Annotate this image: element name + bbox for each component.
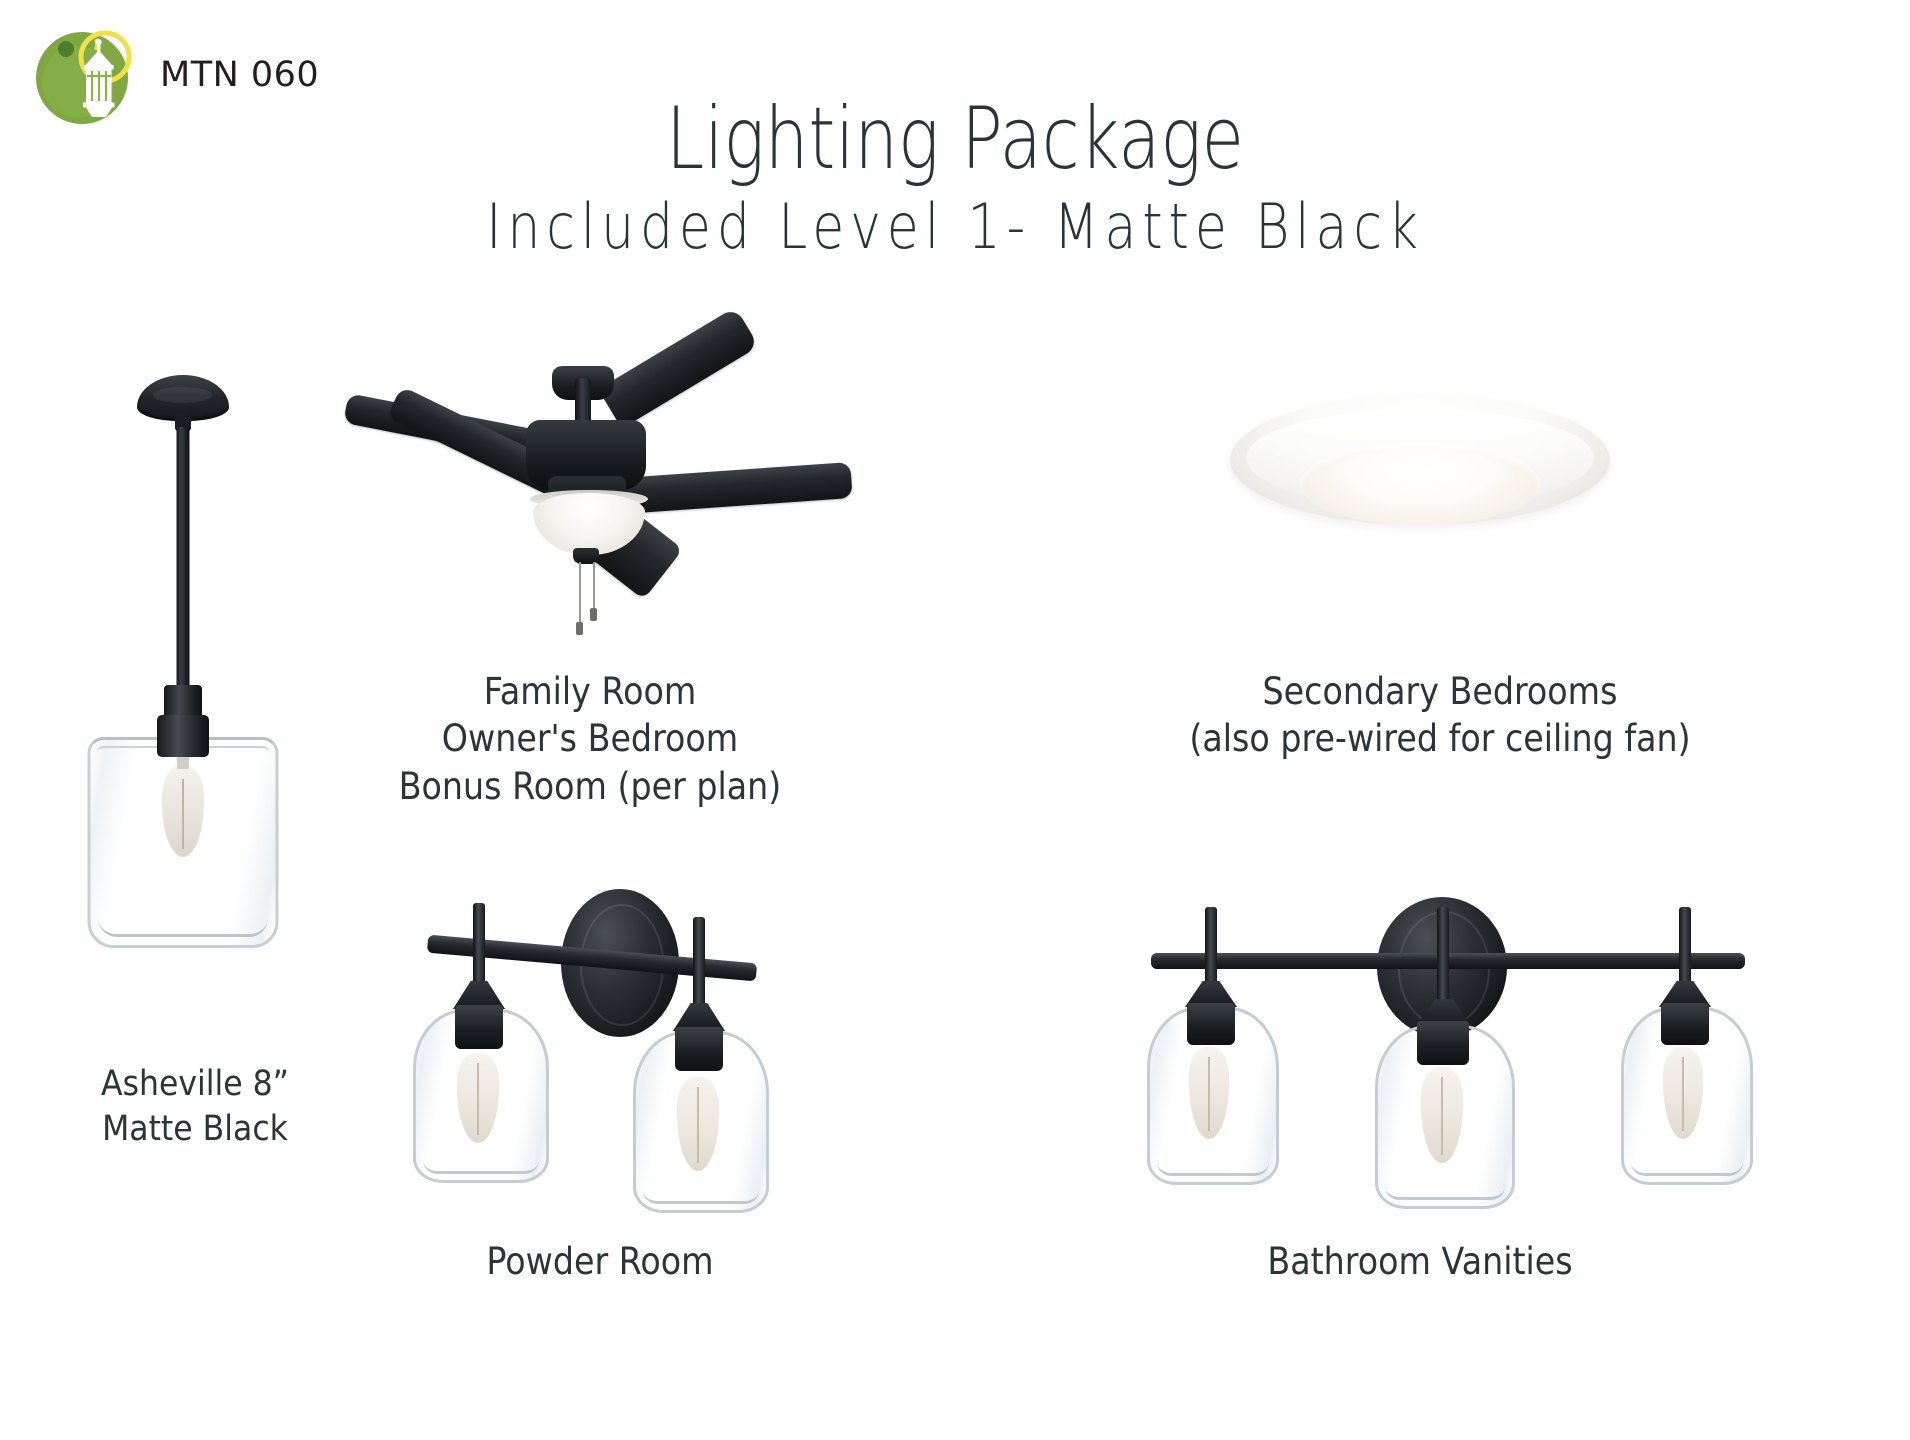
vanity3-socket-right: [1661, 1003, 1709, 1045]
fan-caption-line-1: Family Room: [329, 668, 851, 715]
vanity2-socket-right: [675, 1027, 723, 1071]
bathroom-vanities-caption: Bathroom Vanities: [1204, 1238, 1636, 1285]
title-block: Lighting Package Included Level 1- Matte…: [0, 96, 1910, 258]
pendant-light-image: [75, 355, 290, 1035]
pendant-downrod: [176, 427, 189, 691]
secondary-bedrooms-caption: Secondary Bedrooms (also pre-wired for c…: [1152, 668, 1728, 763]
fan-caption-line-3: Bonus Room (per plan): [329, 763, 851, 810]
fan-pull-chain-end-2: [590, 608, 597, 621]
flush-mount-light-image: [1230, 395, 1610, 555]
fan-pull-chain-1: [579, 562, 581, 624]
lighting-package-slide: MTN 060 Lighting Package Included Level …: [0, 0, 1910, 1440]
vanity3-stem-right: [1679, 907, 1691, 993]
fan-caption-line-2: Owner's Bedroom: [329, 715, 851, 762]
vanity3-filament-right: [1682, 1057, 1684, 1131]
ceiling-fan-caption: Family Room Owner's Bedroom Bonus Room (…: [329, 668, 851, 810]
pendant-fitter: [157, 715, 209, 757]
vanity2-stem-right: [693, 917, 705, 1013]
secondary-caption-line-1: Secondary Bedrooms: [1152, 668, 1728, 715]
fan-pull-chain-end-1: [576, 622, 583, 635]
two-light-vanity-image: [395, 885, 795, 1215]
powder-room-caption: Powder Room: [402, 1238, 798, 1285]
three-light-vanity-image: [1145, 895, 1765, 1215]
fan-pull-chain-2: [593, 562, 595, 610]
vanity2-socket-left: [455, 1005, 503, 1049]
pendant-caption-line-1: Asheville 8”: [47, 1062, 344, 1107]
pendant-filament: [182, 779, 184, 849]
plan-code-label: MTN 060: [160, 55, 319, 95]
page-subtitle: Included Level 1- Matte Black: [153, 196, 1757, 258]
vanity2-stem-left: [473, 903, 485, 993]
vanity3-socket-left: [1187, 1003, 1235, 1045]
vanity2-filament-left: [477, 1063, 479, 1135]
flush-mount-lens: [1300, 443, 1540, 525]
vanity2-filament-right: [697, 1087, 699, 1163]
fan-downrod: [575, 378, 591, 426]
vanity3-socket-center: [1417, 1021, 1469, 1065]
vanity3-filament-center: [1441, 1077, 1443, 1155]
fan-blade-upper-right: [598, 307, 759, 429]
secondary-caption-line-2: (also pre-wired for ceiling fan): [1152, 715, 1728, 762]
vanity3-filament-left: [1208, 1057, 1210, 1131]
fan-finial: [573, 548, 599, 564]
pendant-caption-line-2: Matte Black: [47, 1107, 344, 1152]
vanity-caption-line-1: Bathroom Vanities: [1204, 1238, 1636, 1285]
powder-caption-line-1: Powder Room: [402, 1238, 798, 1285]
ceiling-fan-image: [330, 350, 890, 640]
vanity3-stem-left: [1205, 907, 1217, 993]
pendant-caption: Asheville 8” Matte Black: [47, 1062, 344, 1152]
page-title: Lighting Package: [191, 96, 1719, 182]
fan-blade-right: [621, 462, 853, 514]
